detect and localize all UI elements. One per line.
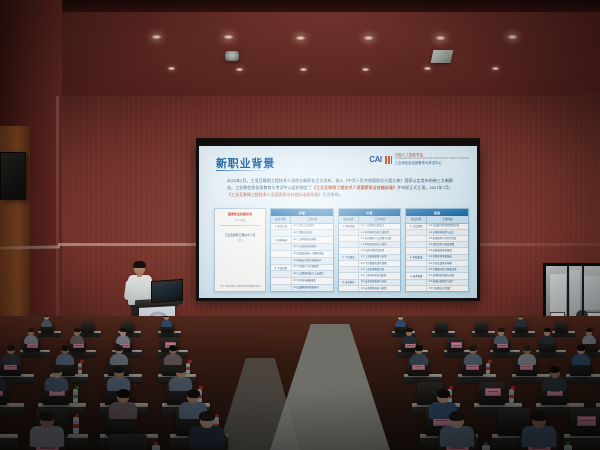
table-row: 3.3 行业解决方案推广 — [406, 286, 468, 291]
ceiling-downlight — [424, 67, 431, 70]
audience-member — [56, 346, 74, 363]
body-segment: 正式发布。 — [323, 192, 343, 197]
desk-front-panel — [536, 352, 566, 358]
audience-member — [2, 346, 20, 363]
table-header: 中级 — [339, 209, 401, 216]
cell-content: 2.1 工业网络协议解析 — [292, 237, 333, 243]
level-table-advanced: 高级 职业功能 工作内容 1. 方案规划1.1 行业数字化转型需求分析1.2 总… — [405, 208, 469, 292]
desk-name-card — [577, 416, 596, 426]
bottle-label — [486, 367, 490, 370]
audience-member — [107, 367, 130, 388]
cell-function: 2. 网络基础 — [271, 237, 292, 243]
table-row: 3.4 设备数据可视化展示 — [271, 285, 333, 291]
bottle-cap — [75, 414, 79, 417]
audience-member — [395, 316, 406, 325]
cell-function: 3. 平台应用 — [271, 265, 292, 271]
audience-hair — [498, 328, 505, 332]
cell-content: 3.1 技术团队组建与培养 — [427, 273, 468, 278]
chair-back — [475, 322, 488, 333]
audience-member — [164, 346, 182, 363]
audience-member — [543, 367, 566, 388]
desk-front-panel — [552, 333, 575, 337]
laptop-lid — [151, 279, 183, 303]
cell-content: 3.1 平台账户与环境配置 — [292, 265, 333, 271]
cell-content: 2.2 平台微服务组件部署 — [359, 261, 400, 266]
body-segment-highlight: 《工业互联网工程技术人员国家职业技能标准》 — [312, 185, 397, 190]
table-header: 初级 — [271, 209, 333, 216]
audience-member — [518, 346, 536, 363]
water-bottle — [73, 389, 78, 403]
audience-hair — [28, 328, 35, 332]
cell-function — [406, 242, 427, 247]
cell-function — [271, 251, 292, 257]
audience-torso — [190, 426, 224, 447]
audience-torso — [410, 354, 428, 365]
audience-hair — [437, 389, 450, 398]
booth-wall-panel — [570, 270, 580, 316]
table-header: 高级 — [406, 209, 468, 216]
audience-torso — [494, 335, 508, 344]
chair-back — [555, 322, 568, 333]
audience-torso — [515, 320, 526, 327]
cell-function: 1. 方案规划 — [406, 224, 427, 229]
audience-torso — [582, 335, 596, 344]
ceiling-downlight — [436, 36, 445, 40]
table-row: 3.2 安全事件响应与处置 — [339, 286, 401, 291]
doc-card-middle-sub: (试行) — [218, 238, 262, 242]
ceiling-downlight — [364, 36, 373, 40]
bottle-cap — [566, 442, 570, 445]
logo-bars-icon — [385, 156, 392, 164]
table-row: 3.2 工业数据采集与上云操作 — [271, 271, 333, 278]
audience-member — [116, 329, 130, 342]
table-row: 2.4 网络安全防护基础操作 — [271, 258, 333, 265]
desk-front-panel — [490, 352, 520, 358]
projection-screen-frame: 新职业背景 CAI 中国人工智能学会 CHINESE ASSOCIATION F… — [196, 143, 480, 301]
audience-torso — [543, 377, 566, 391]
cell-function — [406, 286, 427, 291]
cell-function — [271, 278, 292, 284]
audience-torso — [110, 354, 128, 365]
table-row: 3. 平台应用3.1 平台账户与环境配置 — [271, 265, 333, 272]
table-row: 2.3 边缘设备接入与数据采集 — [271, 251, 333, 258]
ceiling-downlight — [168, 67, 175, 70]
cell-content: 1.2 了解职业发展 — [292, 230, 333, 236]
ceiling-downlight — [152, 35, 161, 39]
cell-function — [271, 244, 292, 250]
table-rows: 1. 网络构建1.1 工业网络方案设计1.2 异构网络互联互通配置1.3 标识解… — [339, 224, 401, 291]
audience-torso — [518, 354, 536, 365]
level-table-primary: 初级 职业功能 工作内容 1. 职业认知1.1 认知工业互联网1.2 了解职业发… — [270, 208, 334, 292]
cell-content: 1.1 工业网络方案设计 — [359, 224, 400, 229]
cell-function — [271, 271, 292, 277]
presentation-slide: 新职业背景 CAI 中国人工智能学会 CHINESE ASSOCIATION F… — [199, 146, 477, 298]
cell-function — [271, 285, 292, 291]
ceiling-downlight — [492, 67, 499, 70]
col-head-function: 职业功能 — [339, 216, 359, 222]
table-row: 2. 网络基础2.1 工业网络协议解析 — [271, 237, 333, 244]
level-table-intermediate: 中级 职业功能 工作内容 1. 网络构建1.1 工业网络方案设计1.2 异构网络… — [338, 208, 402, 292]
audience-member — [540, 329, 554, 342]
audience-hair — [531, 411, 547, 421]
audience-torso — [402, 335, 416, 344]
table-subheader: 职业功能 工作内容 — [271, 216, 333, 223]
audience-member — [522, 412, 556, 443]
bottle-label — [78, 367, 82, 370]
audience-torso — [0, 377, 6, 391]
audience-torso — [30, 426, 64, 447]
body-segment-highlight: 《工业互联网工程技术人员国家职业技能标准报批稿》 — [227, 192, 323, 197]
audience-hair — [169, 345, 177, 351]
audience-hair — [117, 389, 130, 398]
bottle-cap — [75, 386, 79, 389]
audience-torso — [540, 335, 554, 344]
water-bottle — [486, 363, 490, 374]
audience-member — [515, 316, 526, 325]
ceiling-front-edge — [58, 0, 600, 12]
cell-content: 2.2 工业现场总线组网 — [292, 244, 333, 250]
organization-logo: CAI 中国人工智能学会 CHINESE ASSOCIATION FOR ART… — [369, 154, 469, 165]
bottle-cap — [154, 442, 158, 445]
desk-front-panel — [512, 333, 535, 337]
desk-front-panel — [566, 377, 600, 384]
cell-content: 2.3 边缘设备接入与数据采集 — [292, 251, 333, 257]
audience-torso — [164, 354, 182, 365]
audience-member — [70, 329, 84, 342]
audience-torso — [56, 354, 74, 365]
col-head-content: 工作内容 — [291, 216, 332, 222]
water-bottle — [152, 445, 160, 450]
audience-member — [30, 412, 64, 443]
table-rows: 1. 方案规划1.1 行业数字化转型需求分析1.2 总体架构规划与设计1.3 技… — [406, 224, 468, 291]
audience-hair — [586, 328, 593, 332]
body-segment: 并申报正式立项。2021年7月， — [397, 185, 453, 190]
bottle-cap — [484, 442, 488, 445]
ceiling-downlight — [300, 68, 307, 71]
body-segment: 2020年2月，工业互联网工程技术人员作为新职业正式发布，纳入《中华人民共和国职… — [227, 178, 404, 183]
cell-function — [406, 230, 427, 235]
cell-content: 1.5 标准规范体系建设 — [427, 248, 468, 253]
col-head-function: 职业功能 — [406, 216, 426, 222]
audience-member — [582, 329, 596, 342]
slide-title: 新职业背景 — [216, 155, 275, 171]
chair-back — [435, 322, 448, 333]
audience-hair — [120, 328, 127, 332]
audience-member — [109, 390, 137, 416]
audience-hair — [523, 345, 531, 351]
cell-content: 3.3 平台App基础使用 — [292, 278, 333, 284]
table-subheader: 职业功能 工作内容 — [406, 216, 468, 223]
cell-function — [406, 248, 427, 253]
bottle-cap — [511, 386, 515, 389]
audience-member — [190, 412, 224, 443]
booth-wall-panel — [550, 274, 566, 314]
cell-content: 1.5 边缘计算网关配置 — [359, 248, 400, 253]
cell-content: 2.4 网络安全防护基础操作 — [292, 258, 333, 264]
audience-hair — [51, 366, 62, 373]
table-row: 1. 职业认知1.1 认知工业互联网 — [271, 224, 333, 231]
cell-content: 3.2 技术标准制定与推广 — [427, 280, 468, 285]
chair-back — [108, 434, 147, 450]
audience-torso — [2, 354, 20, 365]
presenter-hair — [133, 261, 146, 268]
audience-torso — [395, 320, 406, 327]
cell-function: 2. 系统集成 — [406, 255, 427, 260]
audience-hair — [187, 389, 200, 398]
cell-function — [406, 267, 427, 272]
cell-function — [271, 258, 292, 264]
audience-member — [464, 346, 482, 363]
audience-torso — [70, 335, 84, 344]
cell-content: 2.3 大数据分析与智能决策 — [427, 267, 468, 272]
water-bottle — [482, 445, 490, 450]
cell-content: 2.1 工业数据建模与治理 — [359, 255, 400, 260]
cell-function: 1. 网络构建 — [339, 224, 360, 229]
laptop-screen — [154, 282, 180, 300]
cell-content: 1.2 总体架构规划与设计 — [427, 230, 468, 235]
col-head-content: 工作内容 — [359, 216, 400, 222]
water-bottle — [564, 445, 572, 450]
water-bottle — [73, 417, 79, 434]
ceiling-spot-fixture — [225, 51, 239, 61]
bottle-label — [73, 424, 79, 428]
slide-body-text: 2020年2月，工业互联网工程技术人员作为新职业正式发布，纳入《中华人民共和国职… — [227, 178, 453, 198]
ceiling-vent — [431, 50, 454, 63]
cell-function — [339, 242, 360, 247]
logo-mark-text: CAI — [369, 155, 381, 164]
desk-front-panel — [20, 352, 50, 358]
cell-function — [339, 261, 360, 266]
bottle-cap — [188, 360, 192, 363]
audience-hair — [549, 366, 560, 373]
cell-content: 2.1 多源异构系统集成 — [427, 255, 468, 260]
cell-content: 2.2 平台运维体系构建 — [427, 261, 468, 266]
wall-speaker — [0, 152, 26, 200]
audience-hair — [449, 411, 465, 421]
ceiling-downlight — [236, 68, 243, 71]
cell-content: 1.3 技术选型与可行性论证 — [427, 236, 468, 241]
cell-content: 3.2 安全事件响应与处置 — [359, 286, 400, 291]
table-rows: 1. 职业认知1.1 认知工业互联网1.2 了解职业发展2. 网络基础2.1 工… — [271, 224, 333, 291]
desk-front-panel — [472, 333, 495, 337]
cell-function: 2. 平台建设 — [339, 255, 360, 260]
col-head-function: 职业功能 — [271, 216, 291, 222]
cell-function: 3. 安全防护 — [339, 280, 360, 285]
cell-content: 3.2 工业数据采集与上云操作 — [292, 271, 333, 277]
audience-torso — [169, 377, 192, 391]
audience-hair — [61, 345, 69, 351]
water-bottle — [78, 363, 82, 374]
audience-hair — [469, 345, 477, 351]
bottle-cap — [449, 386, 453, 389]
bottle-label — [73, 395, 78, 399]
audience-torso — [109, 402, 137, 419]
cell-function — [406, 261, 427, 266]
cell-function — [339, 236, 360, 241]
table-row: 3.3 平台App基础使用 — [271, 278, 333, 285]
logo-line-3: 工业和信息化部教育与考试中心 — [395, 162, 469, 165]
doc-card-rule — [220, 225, 260, 226]
audience-hair — [74, 328, 81, 332]
cell-function — [339, 267, 360, 272]
booth-wall-panel — [584, 276, 600, 310]
cell-function: 3. 技术管理 — [406, 273, 427, 278]
audience-torso — [464, 354, 482, 365]
audience-hair — [415, 345, 423, 351]
cell-function — [339, 248, 360, 253]
cell-content: 1.2 异构网络互联互通配置 — [359, 230, 400, 235]
cell-content: 3.1 安全态势监测与分析 — [359, 280, 400, 285]
audience-hair — [7, 345, 15, 351]
audience-hair — [113, 366, 124, 373]
doc-card-subtitle: (2021年版) — [218, 218, 262, 222]
cell-content: 1.3 标识解析节点部署与注册 — [359, 236, 400, 241]
ceiling-downlight — [296, 36, 305, 40]
cell-function — [339, 286, 360, 291]
desk-front-panel — [0, 407, 24, 416]
bottle-cap — [80, 360, 84, 363]
table-row: 2.2 工业现场总线组网 — [271, 244, 333, 251]
audience-hair — [577, 345, 585, 351]
audience-member — [110, 346, 128, 363]
cell-function — [406, 280, 427, 285]
bottle-cap — [199, 386, 203, 389]
desk-front-panel — [0, 438, 18, 449]
cell-content: 2.4 工业App开发与集成 — [359, 273, 400, 278]
audience-torso — [161, 320, 172, 327]
audience-torso — [572, 354, 590, 365]
audience-member — [440, 412, 474, 443]
doc-card-title: 国家职业技能标准 — [218, 213, 262, 217]
cell-content: 2.3 工业机理模型封装 — [359, 267, 400, 272]
audience-member — [572, 346, 590, 363]
desk-front-panel — [432, 333, 455, 337]
bottle-label — [509, 395, 514, 399]
audience-torso — [440, 426, 474, 447]
bottle-cap — [488, 360, 492, 363]
audience-hair — [406, 328, 413, 332]
audience-hair — [175, 366, 186, 373]
cell-content: 3.3 行业解决方案推广 — [427, 286, 468, 291]
audience-member — [0, 367, 6, 388]
doc-card-middle: 工业互联网工程技术人员 — [218, 233, 262, 237]
audience-seating-area — [0, 316, 600, 450]
audience-member — [41, 316, 52, 325]
desk-front-panel — [38, 333, 61, 337]
cell-function — [271, 230, 292, 236]
audience-member — [410, 346, 428, 363]
ceiling-downlight — [224, 35, 233, 39]
standard-document-card: 国家职业技能标准 (2021年版) 工业互联网工程技术人员 (试行) 中华人民共… — [214, 208, 266, 292]
audience-torso — [116, 335, 130, 344]
cell-content: 1.4 网络性能测试与调优 — [359, 242, 400, 247]
slide-title-underline — [216, 170, 270, 171]
audience-hair — [544, 328, 551, 332]
cell-function: 1. 职业认知 — [271, 224, 292, 230]
doc-card-footer: 中华人民共和国人力资源和社会保障部 制定 — [218, 285, 262, 288]
col-head-content: 工作内容 — [427, 216, 468, 222]
audience-hair — [115, 345, 123, 351]
water-bottle — [509, 389, 514, 403]
slide-table-area: 国家职业技能标准 (2021年版) 工业互联网工程技术人员 (试行) 中华人民共… — [214, 208, 469, 292]
cell-content: 1.1 认知工业互联网 — [292, 224, 333, 230]
desk-name-card — [451, 342, 462, 348]
cell-content: 1.1 行业数字化转型需求分析 — [427, 224, 468, 229]
ceiling-downlight — [362, 68, 369, 71]
cell-content: 1.4 项目投资与收益测算 — [427, 242, 468, 247]
audience-torso — [522, 426, 556, 447]
audience-member — [402, 329, 416, 342]
audience-hair — [39, 411, 55, 421]
audience-member — [494, 329, 508, 342]
audience-torso — [41, 320, 52, 327]
cell-function — [339, 273, 360, 278]
audience-member — [161, 316, 172, 325]
audience-member — [24, 329, 38, 342]
audience-torso — [24, 335, 38, 344]
logo-text-block: 中国人工智能学会 CHINESE ASSOCIATION FOR ARTIFIC… — [395, 154, 469, 165]
audience-member — [45, 367, 68, 388]
audience-hair — [199, 411, 215, 421]
cell-content: 3.4 设备数据可视化展示 — [292, 285, 333, 291]
lecture-hall-photo: 新职业背景 CAI 中国人工智能学会 CHINESE ASSOCIATION F… — [0, 0, 600, 450]
table-row: 1.2 了解职业发展 — [271, 230, 333, 237]
cell-function — [339, 230, 360, 235]
table-subheader: 职业功能 工作内容 — [339, 216, 401, 223]
audience-torso — [45, 377, 68, 391]
ceiling-downlight — [508, 35, 517, 39]
cell-function — [406, 236, 427, 241]
audience-member — [169, 367, 192, 388]
desk-name-card — [485, 388, 501, 396]
desk-front-panel — [158, 333, 181, 337]
